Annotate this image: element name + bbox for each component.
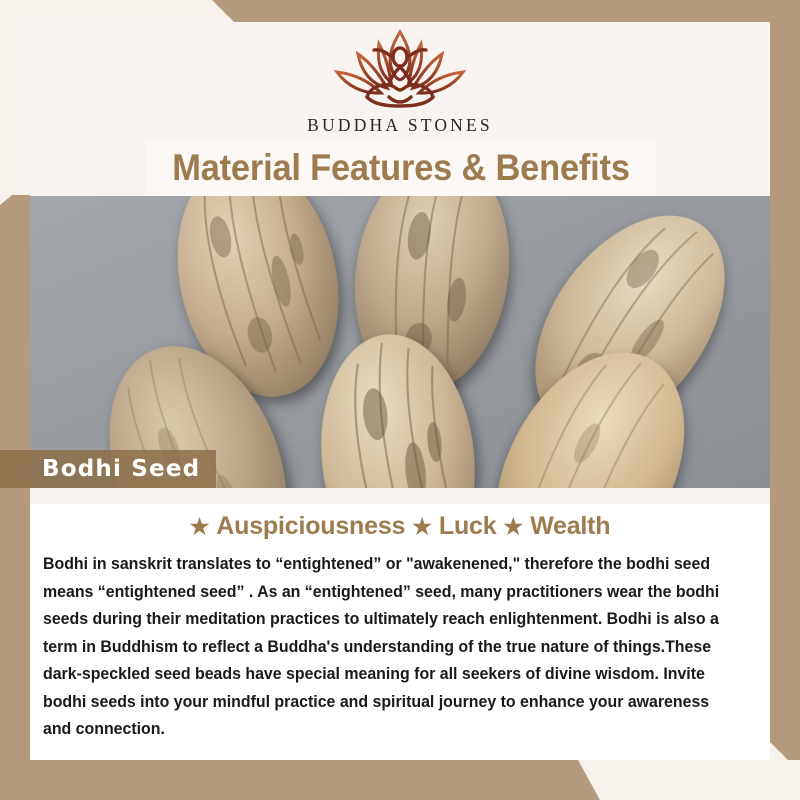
description-text: Bodhi in sanskrit translates to “entight…: [43, 551, 738, 744]
frame-band-bottom: [0, 760, 800, 800]
lotus-meditation-icon: [317, 24, 483, 110]
page-title: Material Features & Benefits: [172, 147, 630, 189]
photo-caption-label: Bodhi Seed: [42, 456, 200, 482]
photo-caption-band: Bodhi Seed: [0, 450, 216, 488]
infographic-page: BUDDHA STONES Material Features & Benefi…: [0, 0, 800, 800]
benefit-item-luck: Luck: [439, 512, 497, 540]
benefits-list: ★ Auspiciousness ★ Luck ★ Wealth: [30, 512, 770, 541]
brand-logo: BUDDHA STONES: [0, 24, 800, 136]
brand-name: BUDDHA STONES: [307, 115, 493, 136]
star-icon-1: ★: [190, 514, 210, 539]
benefit-item-wealth: Wealth: [530, 512, 610, 540]
product-photo: [30, 196, 770, 488]
card-top-edge: [30, 488, 770, 504]
description-card: ★ Auspiciousness ★ Luck ★ Wealth Bodhi i…: [30, 488, 770, 760]
bodhi-seeds-illustration: [30, 196, 770, 488]
star-icon-2: ★: [412, 514, 432, 539]
benefit-item-auspiciousness: Auspiciousness: [216, 512, 405, 540]
star-icon-3: ★: [503, 514, 523, 539]
title-banner: Material Features & Benefits: [146, 140, 656, 196]
frame-band-left: [0, 195, 30, 800]
